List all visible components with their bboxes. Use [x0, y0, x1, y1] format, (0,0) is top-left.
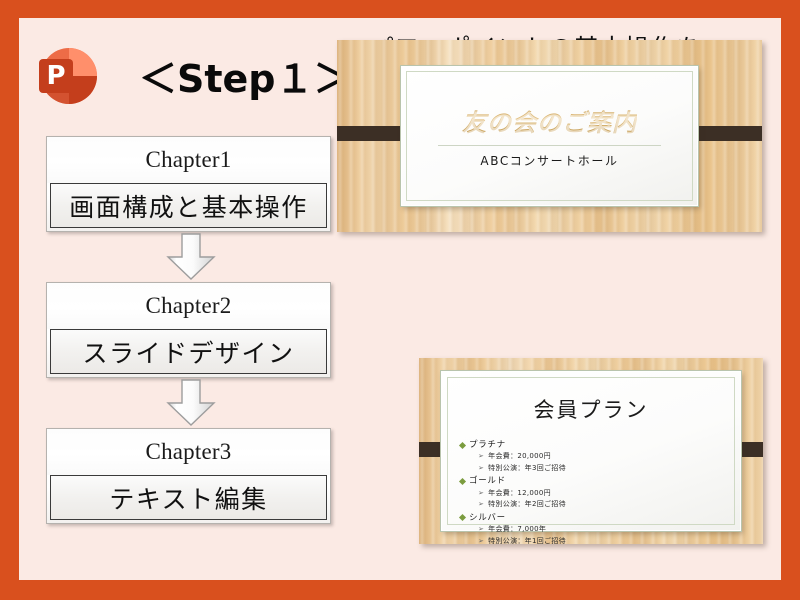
chapter-title-3: テキスト編集	[50, 475, 327, 520]
chapter-label-3: Chapter3	[47, 429, 330, 475]
chapter-block-1[interactable]: Chapter1 画面構成と基本操作	[46, 136, 331, 232]
page-title: ＜Step１＞	[139, 48, 352, 103]
decor-band-left	[337, 126, 409, 141]
plan-group-gold: ゴールド ➢ 年会費：12,000円 ➢ 特別公演：年2回ご招待	[460, 475, 722, 510]
chapter-title-2: スライドデザイン	[50, 329, 327, 374]
plan-detail-invites: ➢ 特別公演：年2回ご招待	[478, 499, 722, 511]
title-slide-card-inner: 友の会のご案内 ABCコンサートホール	[406, 71, 693, 201]
chapter-title-1: 画面構成と基本操作	[50, 183, 327, 228]
arrow-bullet-icon: ➢	[478, 451, 484, 463]
plan-name-silver: シルバー	[460, 512, 722, 524]
title-slide-heading: 友の会のご案内	[462, 103, 637, 138]
plan-detail-text: 特別公演：年1回ご招待	[488, 536, 566, 544]
plan-detail-text: 特別公演：年3回ご招待	[488, 463, 566, 475]
diamond-bullet-icon	[459, 442, 466, 449]
plan-slide-preview[interactable]: 会員プラン プラチナ ➢ 年会費：20,000円 ➢	[419, 358, 763, 544]
plan-name-text: ゴールド	[469, 475, 506, 487]
arrow-bullet-icon: ➢	[478, 524, 484, 536]
plan-slide-card: 会員プラン プラチナ ➢ 年会費：20,000円 ➢	[441, 371, 741, 531]
title-slide-preview[interactable]: 友の会のご案内 ABCコンサートホール	[337, 40, 762, 232]
arrow-bullet-icon: ➢	[478, 536, 484, 544]
plan-name-platinum: プラチナ	[460, 439, 722, 451]
title-slide-divider	[438, 145, 660, 146]
chapter-block-2[interactable]: Chapter2 スライドデザイン	[46, 282, 331, 378]
plan-name-text: プラチナ	[469, 439, 506, 451]
chapter-label-1: Chapter1	[47, 137, 330, 183]
title-slide-subtitle: ABCコンサートホール	[480, 152, 618, 169]
decor-band-right	[690, 126, 762, 141]
diamond-bullet-icon	[459, 478, 466, 485]
plan-detail-fee: ➢ 年会費：20,000円	[478, 451, 722, 463]
plan-detail-invites: ➢ 特別公演：年3回ご招待	[478, 463, 722, 475]
plan-slide-card-inner: 会員プラン プラチナ ➢ 年会費：20,000円 ➢	[447, 377, 735, 525]
plan-detail-fee: ➢ 年会費：7,000年	[478, 524, 722, 536]
plan-slide-heading: 会員プラン	[460, 394, 722, 424]
chapter-label-2: Chapter2	[47, 283, 330, 329]
presentation-slide-frame: P ＜Step１＞ パワーポイントの基本操作を 理解し、スライドを作成します。 …	[0, 0, 800, 600]
chapter-flow-diagram: Chapter1 画面構成と基本操作	[46, 136, 336, 524]
arrow-bullet-icon: ➢	[478, 499, 484, 511]
plan-name-text: シルバー	[469, 512, 506, 524]
arrow-bullet-icon: ➢	[478, 488, 484, 500]
plan-detail-text: 年会費：20,000円	[488, 451, 551, 463]
plan-detail-text: 年会費：12,000円	[488, 488, 551, 500]
arrow-down-icon-1	[46, 232, 336, 282]
arrow-bullet-icon: ➢	[478, 463, 484, 475]
chapter-box-3[interactable]: Chapter3 テキスト編集	[46, 428, 331, 524]
title-slide-card: 友の会のご案内 ABCコンサートホール	[401, 66, 698, 206]
plan-detail-text: 特別公演：年2回ご招待	[488, 499, 566, 511]
chapter-box-2[interactable]: Chapter2 スライドデザイン	[46, 282, 331, 378]
plan-detail-invites: ➢ 特別公演：年1回ご招待	[478, 536, 722, 544]
plan-group-platinum: プラチナ ➢ 年会費：20,000円 ➢ 特別公演：年3回ご招待	[460, 439, 722, 474]
plan-detail-fee: ➢ 年会費：12,000円	[478, 488, 722, 500]
svg-text:P: P	[46, 61, 65, 91]
diamond-bullet-icon	[459, 514, 466, 521]
plan-detail-text: 年会費：7,000年	[488, 524, 546, 536]
arrow-down-icon-2	[46, 378, 336, 428]
plan-group-silver: シルバー ➢ 年会費：7,000年 ➢ 特別公演：年1回ご招待	[460, 512, 722, 544]
plan-name-gold: ゴールド	[460, 475, 722, 487]
slide-canvas: P ＜Step１＞ パワーポイントの基本操作を 理解し、スライドを作成します。 …	[19, 18, 781, 580]
chapter-block-3[interactable]: Chapter3 テキスト編集	[46, 428, 331, 524]
powerpoint-logo-icon: P	[31, 40, 103, 112]
chapter-box-1[interactable]: Chapter1 画面構成と基本操作	[46, 136, 331, 232]
